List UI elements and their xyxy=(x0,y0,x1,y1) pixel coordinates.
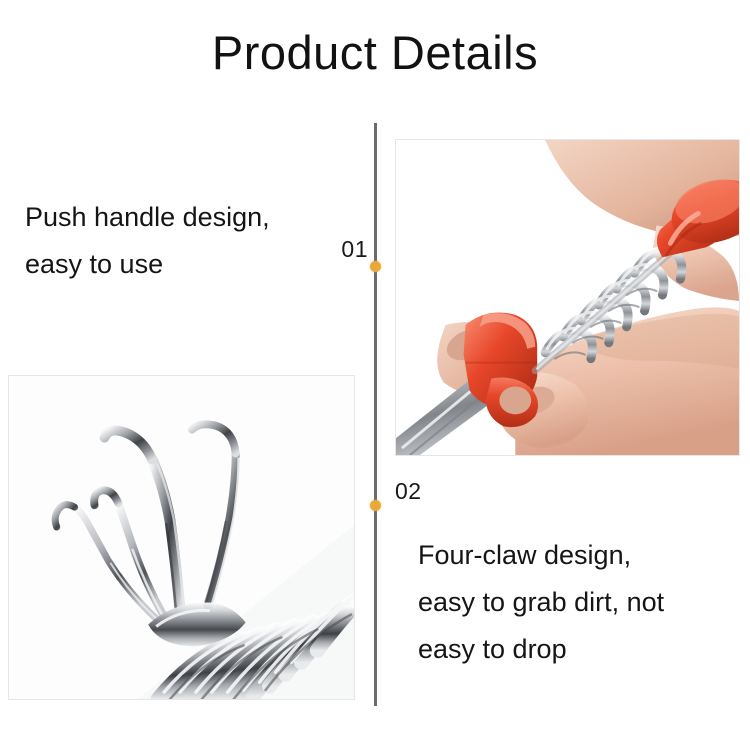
product-details-infographic: Product Details 01 02 Push handle design… xyxy=(0,0,750,750)
step-number-02: 02 xyxy=(395,478,422,504)
timeline-divider-line xyxy=(374,123,377,706)
push-handle-photo xyxy=(395,139,740,456)
feature-caption-step-2: Four-claw design, easy to grab dirt, not… xyxy=(418,532,738,673)
four-claw-photo xyxy=(8,375,355,700)
feature-caption-step-2-line-2: easy to grab dirt, not xyxy=(418,579,738,626)
timeline-dot-step-1 xyxy=(370,261,381,272)
feature-caption-step-2-line-3: easy to drop xyxy=(418,626,738,673)
feature-caption-step-2-line-1: Four-claw design, xyxy=(418,532,738,579)
feature-caption-step-1-line-1: Push handle design, xyxy=(25,194,355,241)
feature-caption-step-1-line-2: easy to use xyxy=(25,241,355,288)
feature-caption-step-1: Push handle design, easy to use xyxy=(25,194,355,288)
page-title: Product Details xyxy=(0,26,750,80)
timeline-dot-step-2 xyxy=(370,500,381,511)
